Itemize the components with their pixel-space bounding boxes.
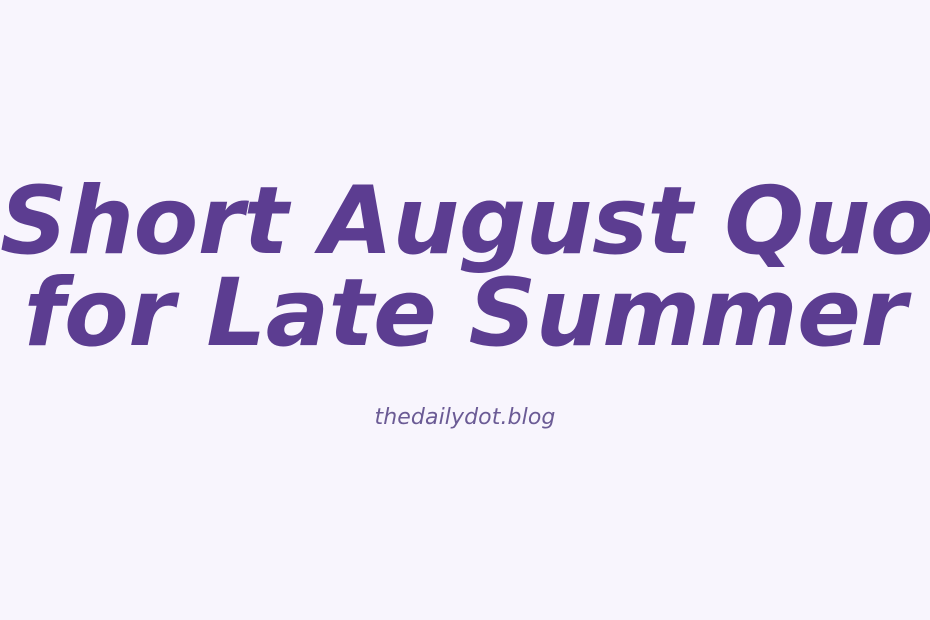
title-line-2: for Late Summer	[0, 268, 930, 360]
graphic-canvas: Short August Quotes for Late Summer thed…	[0, 0, 930, 620]
title-line-1: Short August Quotes	[0, 176, 930, 268]
page-title: Short August Quotes for Late Summer	[0, 176, 930, 360]
subtitle-site-name: thedailydot.blog	[0, 404, 930, 432]
